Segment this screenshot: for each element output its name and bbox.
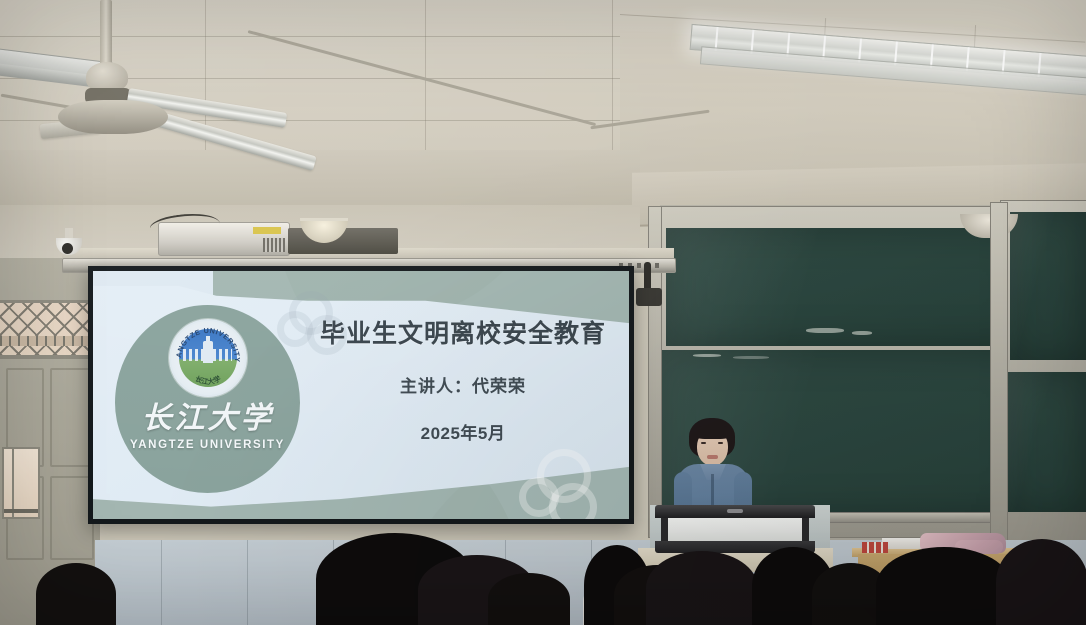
blackboard-rail-vertical bbox=[990, 202, 1008, 542]
lectern-monitor[interactable] bbox=[655, 505, 815, 553]
slide-presenter-line: 主讲人：代荣荣 bbox=[303, 372, 623, 397]
audience-head bbox=[646, 551, 758, 625]
audience-head bbox=[36, 563, 116, 625]
small-red-box bbox=[862, 542, 888, 553]
logo-english-name: YANGTZE UNIVERSITY bbox=[130, 439, 285, 451]
university-logo: YANGTZE UNIVERSITY 长江大学 长江大学 YANGTZE UNI… bbox=[115, 305, 300, 493]
university-emblem-icon: YANGTZE UNIVERSITY 长江大学 bbox=[169, 319, 247, 397]
audience-head bbox=[996, 539, 1086, 625]
ceiling-fan bbox=[40, 0, 290, 150]
svg-text:长江大学: 长江大学 bbox=[193, 374, 221, 386]
monitor-screen[interactable] bbox=[661, 518, 809, 542]
slide-date-line: 2025年5月 bbox=[303, 419, 623, 444]
blackboard-panel-side-upper bbox=[1010, 212, 1086, 360]
small-window bbox=[2, 447, 40, 519]
presenter-fringe bbox=[693, 425, 732, 439]
fan-downrod bbox=[100, 0, 112, 70]
svg-text:YANGTZE UNIVERSITY: YANGTZE UNIVERSITY bbox=[171, 321, 242, 363]
logo-chinese-name: 长江大学 bbox=[142, 403, 274, 435]
audience-head bbox=[876, 547, 1012, 625]
presenter-figure bbox=[676, 418, 750, 516]
fan-motor-housing bbox=[58, 100, 168, 134]
projection-screen[interactable]: YANGTZE UNIVERSITY 长江大学 长江大学 YANGTZE UNI… bbox=[88, 266, 634, 524]
security-camera-icon bbox=[56, 228, 82, 254]
screen-side-bracket bbox=[636, 262, 662, 306]
classroom-photo-scene: YANGTZE UNIVERSITY 长江大学 长江大学 YANGTZE UNI… bbox=[0, 0, 1086, 625]
lattice-window bbox=[0, 300, 92, 359]
monitor-top-casing bbox=[655, 505, 815, 518]
audience-head bbox=[488, 573, 570, 625]
emblem-ring-text: YANGTZE UNIVERSITY 长江大学 bbox=[171, 321, 245, 395]
presenter-mouth bbox=[707, 455, 718, 459]
slide-title: 毕业生文明离校安全教育 bbox=[303, 319, 623, 350]
blackboard-panel-upper bbox=[666, 228, 1030, 346]
slide-text-block: 毕业生文明离校安全教育 主讲人：代荣荣 2025年5月 bbox=[303, 319, 623, 444]
presentation-slide: YANGTZE UNIVERSITY 长江大学 长江大学 YANGTZE UNI… bbox=[93, 271, 629, 519]
blackboard-panel-side-lower bbox=[1008, 372, 1086, 512]
